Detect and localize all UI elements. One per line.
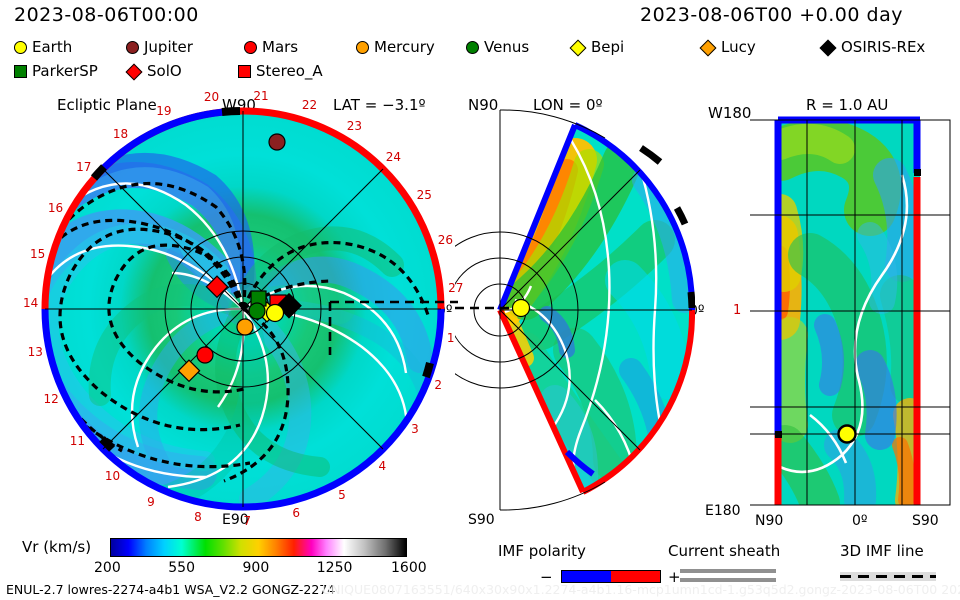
shell-earth-marker (839, 426, 856, 443)
ecliptic-radial-tick: 10 (105, 469, 120, 483)
legend-label: Earth (32, 40, 72, 55)
lucy-marker-icon (700, 39, 717, 56)
legend-item-mercury: Mercury (356, 40, 435, 55)
ecliptic-radial-tick: 26 (438, 233, 453, 247)
ecliptic-radial-tick: 17 (76, 160, 91, 174)
ecliptic-radial-tick: 16 (48, 201, 63, 215)
legend-item-parkersp: ParkerSP (14, 64, 98, 79)
ecliptic-radial-tick: 24 (386, 150, 401, 164)
legend-item-venus: Venus (466, 40, 529, 55)
shell-w180-label: W180 (708, 104, 751, 122)
ecliptic-radial-tick: 25 (417, 188, 432, 202)
timestamp-left: 2023-08-06T00:00 (14, 4, 199, 26)
legend-label: Jupiter (144, 40, 193, 55)
meridional-earth-marker (513, 300, 530, 317)
legend-label: Mars (262, 40, 298, 55)
mercury-marker-icon (356, 41, 369, 54)
colorbar-tick: 1600 (391, 560, 427, 576)
current-sheath-line-top (680, 569, 776, 573)
legend-item-solo: SolO (126, 64, 182, 79)
legend-item-bepi: Bepi (570, 40, 624, 55)
shell-y-tick: 1 (733, 303, 741, 318)
colorbar-label: Vr (km/s) (22, 538, 91, 556)
shell-x-tick: N90 (755, 513, 783, 529)
shell-x-tick: 0º (852, 513, 868, 529)
ecliptic-radial-tick: 18 (113, 127, 128, 141)
ecliptic-radial-tick: 3 (411, 422, 419, 436)
ecliptic-radial-tick: 19 (156, 104, 171, 118)
footer-model-info: ENUL-2.7 lowres-2274-a4b1 WSA_V2.2 GONGZ… (6, 582, 335, 597)
legend-item-lucy: Lucy (700, 40, 756, 55)
constant-radius-shell-plot (750, 115, 960, 515)
footer-watermark: UNIQUE0807163551/640x30x90x1.2274-a4b1.1… (322, 582, 960, 597)
imf-3d-line-dashes (840, 575, 936, 578)
mars-marker-icon (244, 41, 257, 54)
ecliptic-radial-tick: 8 (194, 510, 202, 524)
ecliptic-radial-tick: 23 (347, 119, 362, 133)
ecliptic-radial-tick: 20 (204, 90, 219, 104)
imf-polarity-title: IMF polarity (498, 542, 586, 560)
vr-colorbar (110, 538, 407, 557)
jupiter-marker-icon (126, 41, 139, 54)
current-sheath-title: Current sheath (668, 542, 780, 560)
venus-marker-icon (466, 41, 479, 54)
shell-e180-label: E180 (705, 503, 741, 519)
ecliptic-radial-tick: 7 (243, 514, 251, 528)
ecliptic-radial-tick: 9 (147, 495, 155, 509)
legend-label: Lucy (721, 40, 756, 55)
legend-label: SolO (147, 64, 182, 79)
meridional-plane-plot (455, 100, 695, 520)
ecliptic-radial-tick: 2 (434, 378, 442, 392)
ecliptic-radial-tick: 14 (23, 296, 38, 310)
legend-item-earth: Earth (14, 40, 72, 55)
ecliptic-radial-tick: 11 (70, 434, 85, 448)
legend-label: Stereo_A (256, 64, 323, 79)
colorbar-tick: 550 (168, 560, 195, 576)
legend-item-stereo-a: Stereo_A (238, 64, 323, 79)
ecliptic-radial-tick: 15 (30, 247, 45, 261)
ecliptic-radial-tick: 12 (43, 392, 58, 406)
osiris-rex-marker-icon (820, 39, 837, 56)
imf-positive-swatch (611, 571, 660, 582)
legend-label: Bepi (591, 40, 624, 55)
ecliptic-radial-tick: 4 (379, 459, 387, 473)
imf-3d-line-title: 3D IMF line (840, 542, 924, 560)
timestamp-right: 2023-08-06T00 +0.00 day (640, 4, 903, 26)
ecliptic-radial-tick: 5 (338, 488, 346, 502)
legend-item-jupiter: Jupiter (126, 40, 193, 55)
ecliptic-radial-tick: 21 (253, 89, 268, 103)
shell-panel-title: R = 1.0 AU (806, 96, 888, 114)
legend-label: OSIRIS-REx (841, 40, 925, 55)
ecliptic-radial-tick: 6 (292, 506, 300, 520)
ecliptic-radial-tick: 1 (447, 331, 455, 345)
colorbar-tick: 900 (243, 560, 270, 576)
earth-marker-icon (14, 41, 27, 54)
ecliptic-radial-tick: 13 (28, 345, 43, 359)
colorbar-tick: 200 (94, 560, 121, 576)
stereo-a-marker-icon (238, 65, 251, 78)
parkersp-marker-icon (14, 65, 27, 78)
solo-marker-icon (126, 63, 143, 80)
ecliptic-radial-tick: 22 (302, 98, 317, 112)
legend-item-mars: Mars (244, 40, 298, 55)
bepi-marker-icon (570, 39, 587, 56)
legend-item-osiris-rex: OSIRIS-REx (820, 40, 925, 55)
imf-negative-swatch (562, 571, 611, 582)
legend-label: Mercury (374, 40, 435, 55)
colorbar-tick: 1250 (317, 560, 353, 576)
legend-label: ParkerSP (32, 64, 98, 79)
shell-x-tick: S90 (912, 513, 939, 529)
legend-label: Venus (484, 40, 529, 55)
